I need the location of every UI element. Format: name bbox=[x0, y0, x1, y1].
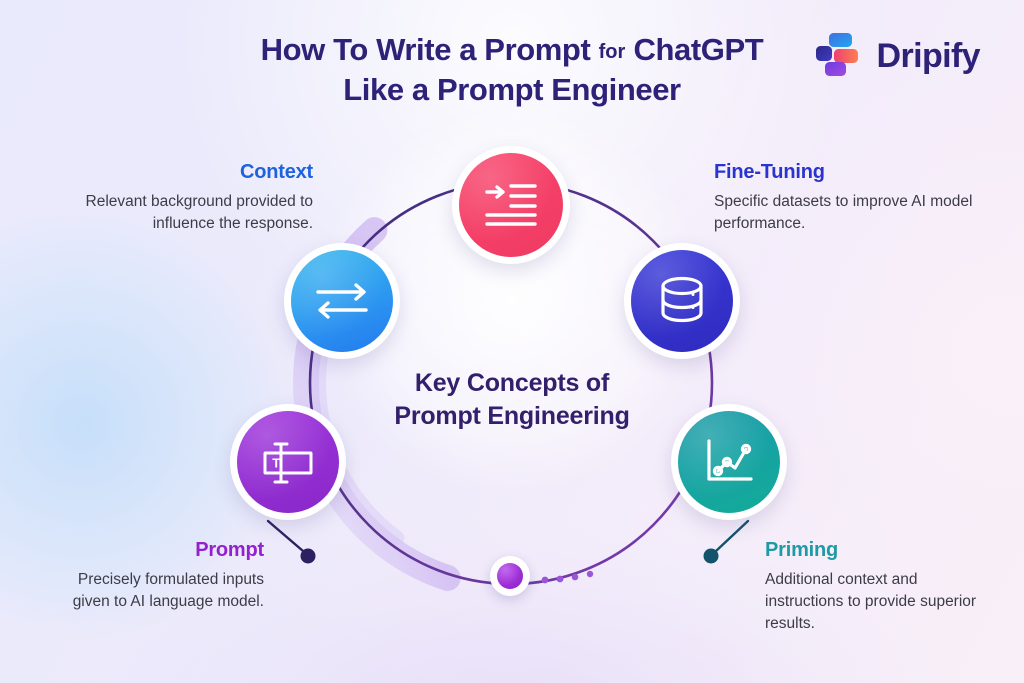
title-line-1: How To Write a Prompt for ChatGPT bbox=[261, 32, 764, 67]
concept-heading-context: Context bbox=[28, 160, 313, 184]
exchange-arrows-icon bbox=[315, 279, 369, 323]
node-indent-lines[interactable] bbox=[452, 146, 570, 264]
concept-heading-prompt: Prompt bbox=[64, 538, 264, 562]
concept-body-prompt: Precisely formulated inputs given to AI … bbox=[64, 569, 264, 613]
center-label: Key Concepts of Prompt Engineering bbox=[312, 367, 712, 433]
leader-line-prompt bbox=[268, 521, 316, 564]
database-icon bbox=[657, 275, 707, 327]
indent-text-icon bbox=[483, 180, 539, 230]
text-input-icon: T bbox=[260, 438, 316, 486]
cycle-end-dot-icon bbox=[497, 563, 523, 589]
node-indent-lines-disc bbox=[459, 153, 563, 257]
concept-block-priming: Priming Additional context and instructi… bbox=[765, 538, 995, 635]
concept-body-priming: Additional context and instructions to p… bbox=[765, 569, 995, 635]
concept-heading-fine-tuning: Fine-Tuning bbox=[714, 160, 999, 184]
line-chart-icon bbox=[703, 437, 755, 487]
concept-block-fine-tuning: Fine-Tuning Specific datasets to improve… bbox=[714, 160, 999, 235]
title-line-2: Like a Prompt Engineer bbox=[343, 72, 680, 107]
concept-body-context: Relevant background provided to influenc… bbox=[28, 191, 313, 235]
infographic-canvas: How To Write a Prompt for ChatGPT Like a… bbox=[0, 0, 1024, 683]
title-part-a: How To Write a Prompt bbox=[261, 32, 591, 67]
ring-dotted-segment bbox=[542, 571, 594, 584]
concept-body-fine-tuning: Specific datasets to improve AI model pe… bbox=[714, 191, 999, 235]
node-cycle-terminal[interactable] bbox=[490, 556, 530, 596]
leader-line-priming bbox=[704, 521, 749, 564]
title-part-for: for bbox=[599, 41, 626, 63]
concept-block-prompt: Prompt Precisely formulated inputs given… bbox=[64, 538, 264, 613]
center-label-line-1: Key Concepts of bbox=[415, 369, 609, 397]
node-context-disc bbox=[291, 250, 393, 352]
node-fine-tuning-disc bbox=[631, 250, 733, 352]
svg-text:T: T bbox=[272, 456, 280, 471]
node-fine-tuning[interactable] bbox=[624, 243, 740, 359]
dripify-logo-mark bbox=[814, 31, 864, 81]
center-label-line-2: Prompt Engineering bbox=[394, 402, 629, 430]
brand-logo[interactable]: Dripify bbox=[814, 31, 980, 81]
logo-wordmark: Dripify bbox=[877, 39, 980, 73]
title-part-b: ChatGPT bbox=[634, 32, 764, 67]
node-context[interactable] bbox=[284, 243, 400, 359]
concept-heading-priming: Priming bbox=[765, 538, 995, 562]
concept-block-context: Context Relevant background provided to … bbox=[28, 160, 313, 235]
